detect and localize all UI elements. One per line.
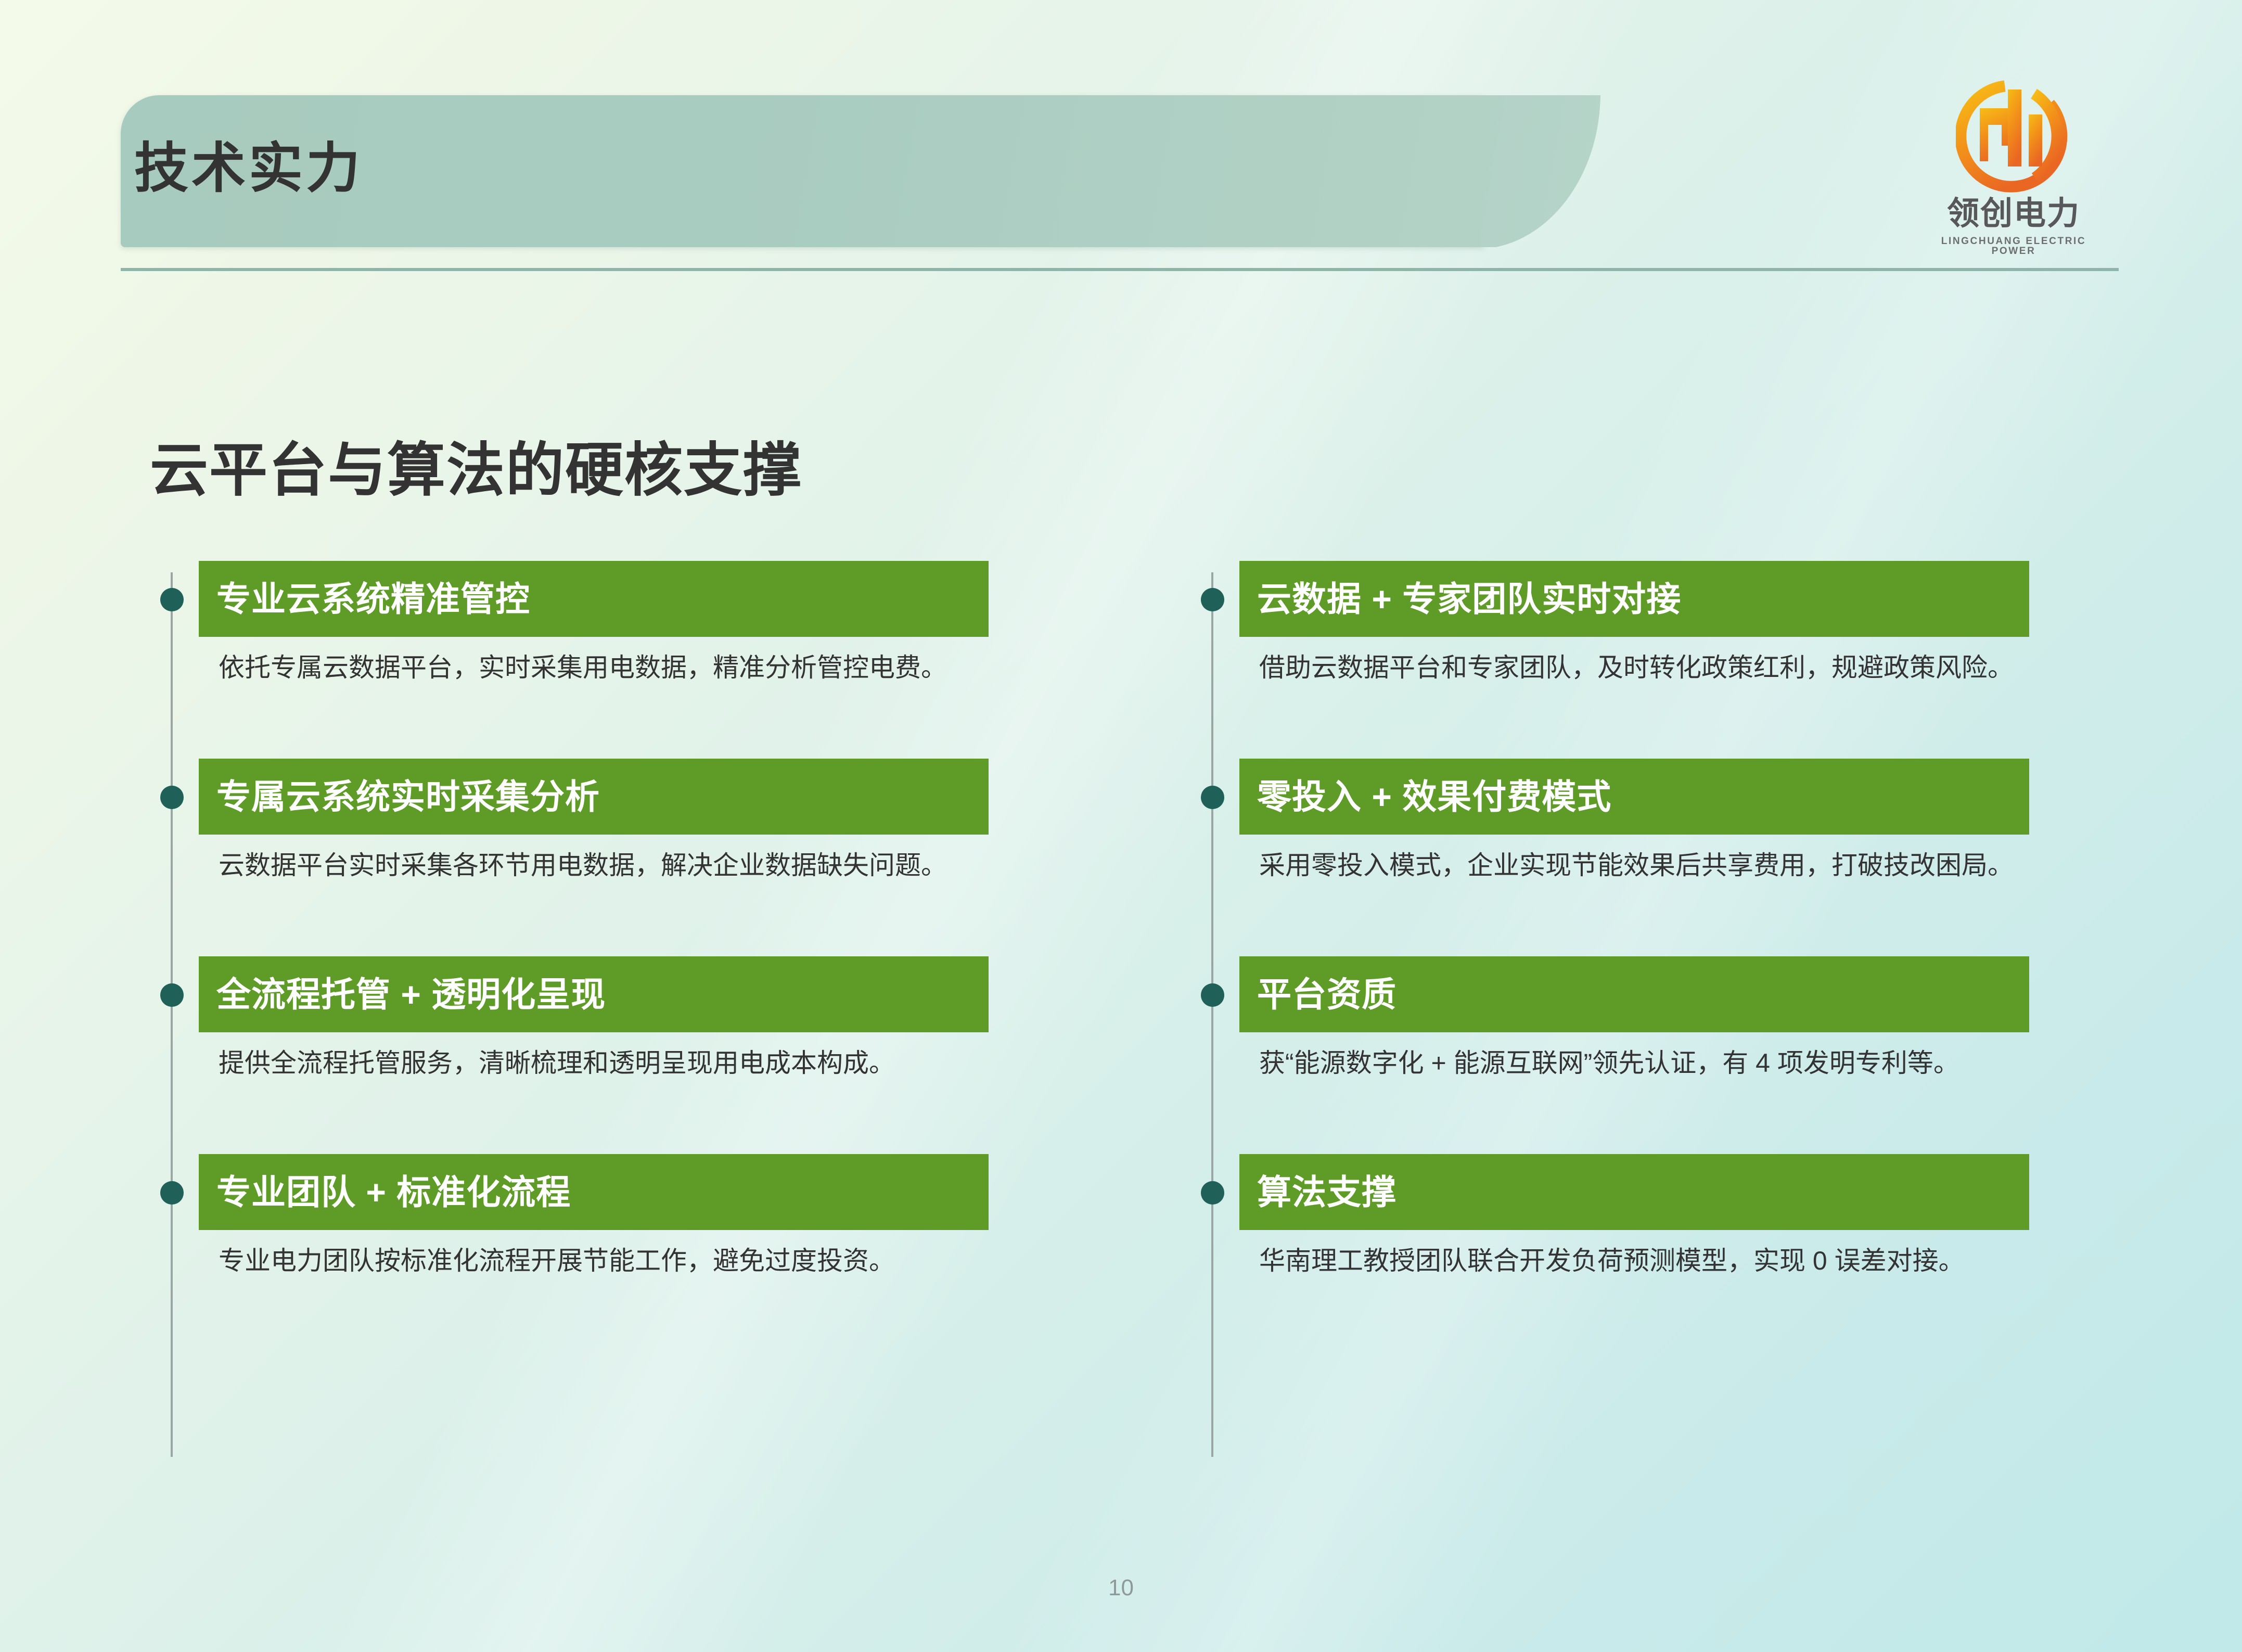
feature-card-header: 云数据 + 专家团队实时对接 [1239, 561, 2029, 637]
timeline-dot-icon [160, 786, 184, 809]
list-item: 云数据 + 专家团队实时对接 借助云数据平台和专家团队，及时转化政策红利，规避政… [1197, 561, 2081, 759]
page-title: 技术实力 [134, 142, 363, 196]
feature-card-header: 全流程托管 + 透明化呈现 [199, 956, 989, 1032]
feature-description: 华南理工教授团队联合开发负荷预测模型，实现 0 误差对接。 [1239, 1244, 2029, 1279]
list-item: 专业团队 + 标准化流程 专业电力团队按标准化流程开展节能工作，避免过度投资。 [156, 1154, 1041, 1352]
header-banner-tail [1481, 95, 1600, 247]
timeline-dot-icon [1201, 1181, 1224, 1205]
feature-card[interactable]: 云数据 + 专家团队实时对接 借助云数据平台和专家团队，及时转化政策红利，规避政… [1239, 561, 2029, 686]
feature-description: 借助云数据平台和专家团队，及时转化政策红利，规避政策风险。 [1239, 650, 2029, 686]
timeline-dot-icon [1201, 786, 1224, 809]
list-item: 零投入 + 效果付费模式 采用零投入模式，企业实现节能效果后共享费用，打破技改困… [1197, 759, 2081, 956]
feature-heading: 平台资质 [1257, 977, 1397, 1011]
list-item: 专属云系统实时采集分析 云数据平台实时采集各环节用电数据，解决企业数据缺失问题。 [156, 759, 1041, 956]
feature-heading: 专属云系统实时采集分析 [216, 779, 600, 814]
list-item: 专业云系统精准管控 依托专属云数据平台，实时采集用电数据，精准分析管控电费。 [156, 561, 1041, 759]
feature-description: 专业电力团队按标准化流程开展节能工作，避免过度投资。 [199, 1244, 989, 1279]
timeline-dot-icon [1201, 588, 1224, 611]
feature-card[interactable]: 平台资质 获“能源数字化 + 能源互联网”领先认证，有 4 项发明专利等。 [1239, 956, 2029, 1081]
timeline-dot-icon [160, 983, 184, 1007]
feature-card[interactable]: 专业团队 + 标准化流程 专业电力团队按标准化流程开展节能工作，避免过度投资。 [199, 1154, 989, 1279]
feature-card[interactable]: 专属云系统实时采集分析 云数据平台实时采集各环节用电数据，解决企业数据缺失问题。 [199, 759, 989, 883]
feature-card[interactable]: 专业云系统精准管控 依托专属云数据平台，实时采集用电数据，精准分析管控电费。 [199, 561, 989, 686]
timeline-dot-icon [160, 588, 184, 611]
logo-mark-icon [1956, 78, 2071, 194]
logo-name-cn: 领创电力 [1925, 198, 2102, 230]
feature-card-header: 专业团队 + 标准化流程 [199, 1154, 989, 1230]
feature-description: 采用零投入模式，企业实现节能效果后共享费用，打破技改困局。 [1239, 848, 2029, 883]
timeline-dot-icon [1201, 983, 1224, 1007]
feature-card-header: 零投入 + 效果付费模式 [1239, 759, 2029, 835]
feature-heading: 专业团队 + 标准化流程 [216, 1175, 571, 1209]
feature-heading: 专业云系统精准管控 [216, 582, 530, 616]
list-item: 平台资质 获“能源数字化 + 能源互联网”领先认证，有 4 项发明专利等。 [1197, 956, 2081, 1154]
feature-heading: 云数据 + 专家团队实时对接 [1257, 582, 1681, 616]
timeline-dot-icon [160, 1181, 184, 1205]
company-logo: 领创电力 LINGCHUANG ELECTRIC POWER [1925, 78, 2102, 250]
timeline-column-left: 专业云系统精准管控 依托专属云数据平台，实时采集用电数据，精准分析管控电费。 专… [156, 561, 1041, 1352]
list-item: 全流程托管 + 透明化呈现 提供全流程托管服务，清晰梳理和透明呈现用电成本构成。 [156, 956, 1041, 1154]
feature-heading: 零投入 + 效果付费模式 [1257, 779, 1611, 814]
logo-name-en: LINGCHUANG ELECTRIC POWER [1925, 236, 2102, 256]
section-title: 云平台与算法的硬核支撑 [150, 441, 802, 500]
feature-card[interactable]: 全流程托管 + 透明化呈现 提供全流程托管服务，清晰梳理和透明呈现用电成本构成。 [199, 956, 989, 1081]
slide-root: 技术实力 [0, 0, 2242, 1652]
feature-heading: 全流程托管 + 透明化呈现 [216, 977, 606, 1011]
header-divider-rule [121, 268, 2119, 271]
feature-card-header: 平台资质 [1239, 956, 2029, 1032]
feature-description: 提供全流程托管服务，清晰梳理和透明呈现用电成本构成。 [199, 1046, 989, 1081]
feature-card[interactable]: 零投入 + 效果付费模式 采用零投入模式，企业实现节能效果后共享费用，打破技改困… [1239, 759, 2029, 883]
list-item: 算法支撑 华南理工教授团队联合开发负荷预测模型，实现 0 误差对接。 [1197, 1154, 2081, 1352]
page-number: 10 [0, 1577, 2242, 1599]
feature-description: 云数据平台实时采集各环节用电数据，解决企业数据缺失问题。 [199, 848, 989, 883]
feature-description: 依托专属云数据平台，实时采集用电数据，精准分析管控电费。 [199, 650, 989, 686]
feature-card-header: 专属云系统实时采集分析 [199, 759, 989, 835]
timeline-column-right: 云数据 + 专家团队实时对接 借助云数据平台和专家团队，及时转化政策红利，规避政… [1197, 561, 2081, 1352]
feature-description: 获“能源数字化 + 能源互联网”领先认证，有 4 项发明专利等。 [1239, 1046, 2029, 1081]
feature-heading: 算法支撑 [1257, 1175, 1397, 1209]
feature-card-header: 算法支撑 [1239, 1154, 2029, 1230]
feature-card-header: 专业云系统精准管控 [199, 561, 989, 637]
feature-card[interactable]: 算法支撑 华南理工教授团队联合开发负荷预测模型，实现 0 误差对接。 [1239, 1154, 2029, 1279]
